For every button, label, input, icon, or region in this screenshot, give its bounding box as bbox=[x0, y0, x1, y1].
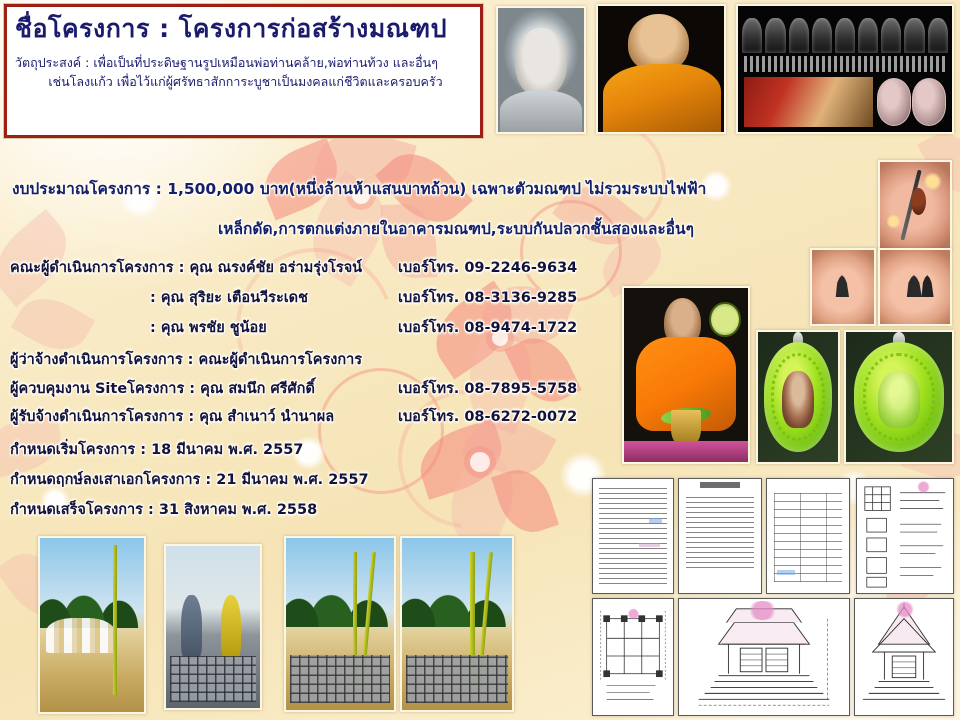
committee-label-1: คณะผู้ดำเนินการโครงการ : คุณ ณรงค์ชัย อร… bbox=[10, 256, 362, 279]
contractor-label: ผู้รับจ้างดำเนินการโครงการ : คุณ สำเนาว์… bbox=[10, 405, 334, 428]
committee-phone-3: เบอร์โทร. 08-9474-1722 bbox=[398, 316, 577, 339]
photo-construction-ceremony-crowd bbox=[38, 536, 146, 714]
committee-label-2: : คุณ สุริยะ เตือนวีระเดช bbox=[150, 286, 308, 309]
photo-portrait-monk-bw bbox=[496, 6, 586, 134]
photo-palm-amulet-single bbox=[810, 248, 876, 326]
employer-line: ผู้ว่าจ้างดำเนินการโครงการ : คณะผู้ดำเนิ… bbox=[10, 348, 362, 371]
project-poster: ชื่อโครงการ : โครงการก่อสร้างมณฑป วัตถุป… bbox=[0, 0, 960, 720]
site-supervisor-label: ผู้ควบคุมงาน Siteโครงการ : คุณ สมนึก ศรี… bbox=[10, 377, 315, 400]
photo-portrait-monk-orange bbox=[596, 4, 726, 134]
contractor-phone: เบอร์โทร. 08-6272-0072 bbox=[398, 405, 577, 428]
document-materials-schedule-page bbox=[766, 478, 850, 594]
photo-amulet-collection-board bbox=[736, 4, 954, 134]
schedule-start: กำหนดเริ่มโครงการ : 18 มีนาคม พ.ศ. 2557 bbox=[10, 438, 303, 461]
photo-pillar-raising-ceremony-2 bbox=[400, 536, 514, 712]
photo-workers-laying-rebar bbox=[164, 544, 262, 710]
document-rebar-detail-sheet bbox=[856, 478, 954, 594]
photo-green-amulet-back bbox=[844, 330, 954, 464]
budget-line-2: เหล็กดัด,การตกแต่งภายในอาคารมณฑป,ระบบกัน… bbox=[218, 216, 694, 241]
photo-green-amulet-front bbox=[756, 330, 840, 464]
schedule-pillar-ceremony: กำหนดฤกษ์ลงเสาเอกโครงการ : 21 มีนาคม พ.ศ… bbox=[10, 468, 369, 491]
title-box: ชื่อโครงการ : โครงการก่อสร้างมณฑป วัตถุป… bbox=[4, 4, 483, 138]
site-supervisor-phone: เบอร์โทร. 08-7895-5758 bbox=[398, 377, 577, 400]
document-cost-estimate-page bbox=[678, 478, 762, 594]
photo-hand-holding-pendant bbox=[878, 160, 952, 250]
photo-palm-amulet-pair bbox=[878, 248, 952, 326]
committee-phone-1: เบอร์โทร. 09-2246-9634 bbox=[398, 256, 577, 279]
committee-label-3: : คุณ พรชัย ชูน้อย bbox=[150, 316, 267, 339]
document-contract-document-page bbox=[592, 478, 674, 594]
objective-line-1: วัตถุประสงค์ : เพื่อเป็นที่ประดิษฐานรูปเ… bbox=[7, 43, 480, 72]
page-title: ชื่อโครงการ : โครงการก่อสร้างมณฑป bbox=[7, 7, 480, 43]
document-mondop-elevation-drawing bbox=[678, 598, 850, 716]
document-mondop-side-elevation-drawing bbox=[854, 598, 954, 716]
objective-line-2: เช่นโลงแก้ว เพื่อไว้แก่ผู้ศรัทธาสักการะบ… bbox=[7, 72, 480, 91]
photo-monk-ceremony-pouring-water bbox=[622, 286, 750, 464]
schedule-finish: กำหนดเสร็จโครงการ : 31 สิงหาคม พ.ศ. 2558 bbox=[10, 498, 317, 521]
budget-line-1: งบประมาณโครงการ : 1,500,000 บาท(หนึ่งล้า… bbox=[12, 176, 706, 201]
document-foundation-plan-drawing bbox=[592, 598, 674, 716]
photo-pillar-raising-ceremony-1 bbox=[284, 536, 396, 712]
committee-phone-2: เบอร์โทร. 08-3136-9285 bbox=[398, 286, 577, 309]
